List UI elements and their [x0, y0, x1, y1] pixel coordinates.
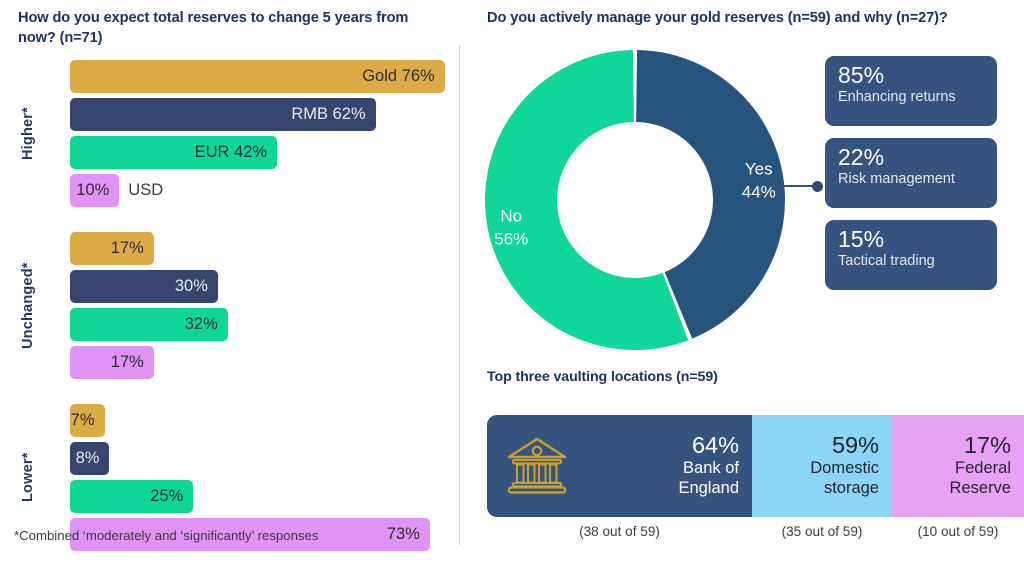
bar-value-label: 7% [71, 404, 95, 437]
vault-label-line2: storage [810, 479, 879, 499]
reason-label: Enhancing returns [838, 89, 997, 106]
vault-percent: 64% [678, 433, 739, 459]
connector-dot [812, 181, 823, 192]
vault-label-line2: Reserve [950, 479, 1011, 499]
group-label-unchanged: Unchanged* [20, 232, 50, 379]
vault-label-line2: England [678, 479, 739, 499]
bar-value-label: 73% [387, 518, 420, 551]
donut-chart-title: Do you actively manage your gold reserve… [487, 8, 1007, 28]
vault-segment-text: 59% Domestic storage [810, 433, 879, 498]
vault-label-line1: Federal [950, 459, 1011, 479]
reason-card-list: 85% Enhancing returns 22% Risk managemen… [825, 56, 1001, 302]
bar-value-label: Gold 76% [362, 60, 434, 93]
reason-card[interactable]: 85% Enhancing returns [825, 56, 997, 126]
bar-value-label: 32% [185, 308, 218, 341]
vault-percent: 17% [950, 433, 1011, 459]
reason-percent: 22% [838, 145, 997, 171]
bar-value-label: 10% [76, 174, 109, 207]
horizontal-bar-chart: Gold 76%RMB 62%EUR 42%10%USDHigher*17%30… [0, 60, 459, 520]
bar-outside-label: USD [128, 174, 163, 207]
bar-row[interactable]: 25% [70, 480, 193, 513]
vault-segment-text: 64% Bank of England [678, 433, 739, 498]
vault-count: (35 out of 59) [752, 524, 892, 539]
bar-row[interactable]: 10%USD [70, 174, 119, 207]
reason-percent: 85% [838, 63, 997, 89]
reason-card[interactable]: 22% Risk management [825, 138, 997, 208]
bar-row[interactable]: 30% [70, 270, 218, 303]
bar-value-label: 17% [111, 346, 144, 379]
gold-management-panel: Do you actively manage your gold reserve… [459, 0, 1024, 563]
reason-label: Tactical trading [838, 253, 997, 270]
bar-value-label: 17% [111, 232, 144, 265]
vault-count: (38 out of 59) [487, 524, 752, 539]
donut-slice-percent: 56% [494, 230, 528, 249]
chart-footnote: *Combined ‘moderately and ‘significantly… [14, 528, 318, 543]
bar-row[interactable]: 17% [70, 346, 154, 379]
bar-row[interactable]: 32% [70, 308, 228, 341]
bar-row[interactable]: 8% [70, 442, 109, 475]
vaulting-locations-bar: 64% Bank of England 59% Domestic storage… [487, 415, 1024, 517]
bar-row[interactable]: Gold 76% [70, 60, 445, 93]
vault-percent: 59% [810, 433, 879, 459]
vault-segment-federal-reserve[interactable]: 17% Federal Reserve [892, 415, 1024, 517]
vault-segment-text: 17% Federal Reserve [950, 433, 1011, 498]
reason-label: Risk management [838, 171, 997, 188]
vault-count-row: (38 out of 59) (35 out of 59) (10 out of… [487, 524, 1024, 539]
donut-chart: Yes44%No56% [483, 48, 787, 352]
bar-value-label: 25% [150, 480, 183, 513]
vault-segment-bank-of-england[interactable]: 64% Bank of England [487, 415, 752, 517]
bar-value-label: EUR 42% [195, 136, 267, 169]
bar-row[interactable]: 7% [70, 404, 105, 437]
vault-count: (10 out of 59) [892, 524, 1024, 539]
vault-label-line1: Domestic [810, 459, 879, 479]
bar-row[interactable]: RMB 62% [70, 98, 376, 131]
reserves-expectation-panel: How do you expect total reserves to chan… [0, 0, 459, 563]
bar-value-label: 8% [76, 442, 100, 475]
reason-percent: 15% [838, 227, 997, 253]
bar-row[interactable]: 17% [70, 232, 154, 265]
connector-line [768, 185, 818, 187]
donut-callout-connector [768, 181, 830, 192]
donut-slice-label: No [500, 207, 522, 226]
donut-slice-label: Yes [745, 159, 773, 178]
reason-card[interactable]: 15% Tactical trading [825, 220, 997, 290]
page-title: How do you expect total reserves to chan… [18, 8, 448, 48]
vault-label-line1: Bank of [678, 459, 739, 479]
bar-row[interactable]: EUR 42% [70, 136, 277, 169]
vaulting-locations-title: Top three vaulting locations (n=59) [487, 368, 987, 388]
bank-building-icon [505, 435, 569, 497]
vault-segment-domestic-storage[interactable]: 59% Domestic storage [752, 415, 892, 517]
bar-value-label: 30% [175, 270, 208, 303]
group-label-higher: Higher* [20, 60, 50, 207]
donut-chart-svg: Yes44%No56% [483, 48, 787, 352]
bar-value-label: RMB 62% [291, 98, 365, 131]
